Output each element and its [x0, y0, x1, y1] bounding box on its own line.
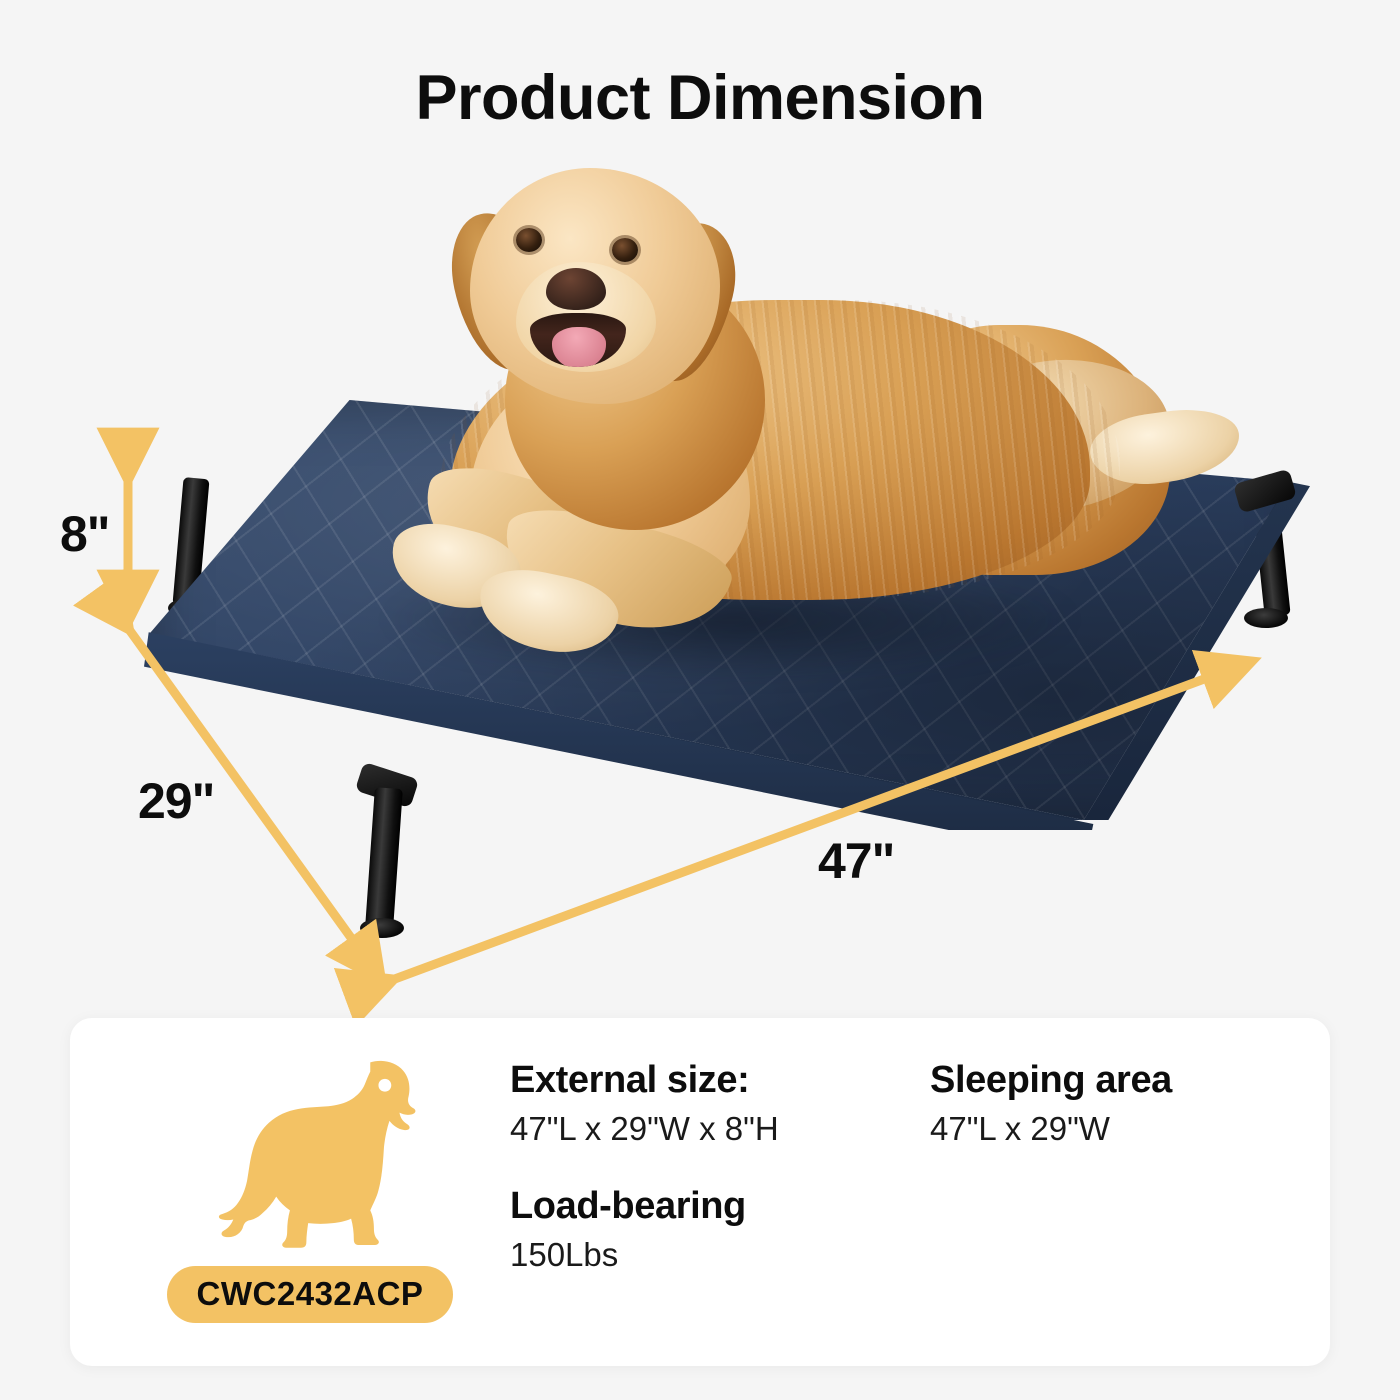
dog-silhouette-icon	[190, 1046, 430, 1256]
spec-column-right: Sleeping area 47"L x 29"W	[930, 1058, 1330, 1184]
spec-value-load-bearing: 150Lbs	[510, 1235, 930, 1275]
spec-heading-sleeping-area: Sleeping area	[930, 1058, 1330, 1103]
spec-group-load-bearing: Load-bearing 150Lbs	[510, 1184, 930, 1274]
spec-group-external-size: External size: 47"L x 29"W x 8"H	[510, 1058, 930, 1148]
spec-card: CWC2432ACP External size: 47"L x 29"W x …	[70, 1018, 1330, 1366]
dimension-arrow-length	[392, 662, 1250, 980]
spec-value-external-size: 47"L x 29"W x 8"H	[510, 1109, 930, 1149]
dimension-label-width: 29"	[138, 772, 214, 830]
sku-badge: CWC2432ACP	[167, 1266, 454, 1323]
spec-column-left: External size: 47"L x 29"W x 8"H Load-be…	[510, 1058, 930, 1311]
spec-group-sleeping-area: Sleeping area 47"L x 29"W	[930, 1058, 1330, 1148]
sku-icon-column: CWC2432ACP	[160, 1046, 460, 1323]
dimension-arrows	[0, 0, 1400, 1010]
elevated-bed-illustration: 8" 29" 47"	[0, 0, 1400, 1010]
spec-value-sleeping-area: 47"L x 29"W	[930, 1109, 1330, 1149]
dimension-label-length: 47"	[818, 832, 894, 890]
dimension-label-height: 8"	[60, 505, 110, 563]
spec-heading-load-bearing: Load-bearing	[510, 1184, 930, 1229]
spec-heading-external-size: External size:	[510, 1058, 930, 1103]
product-hero: 8" 29" 47"	[0, 0, 1400, 1010]
